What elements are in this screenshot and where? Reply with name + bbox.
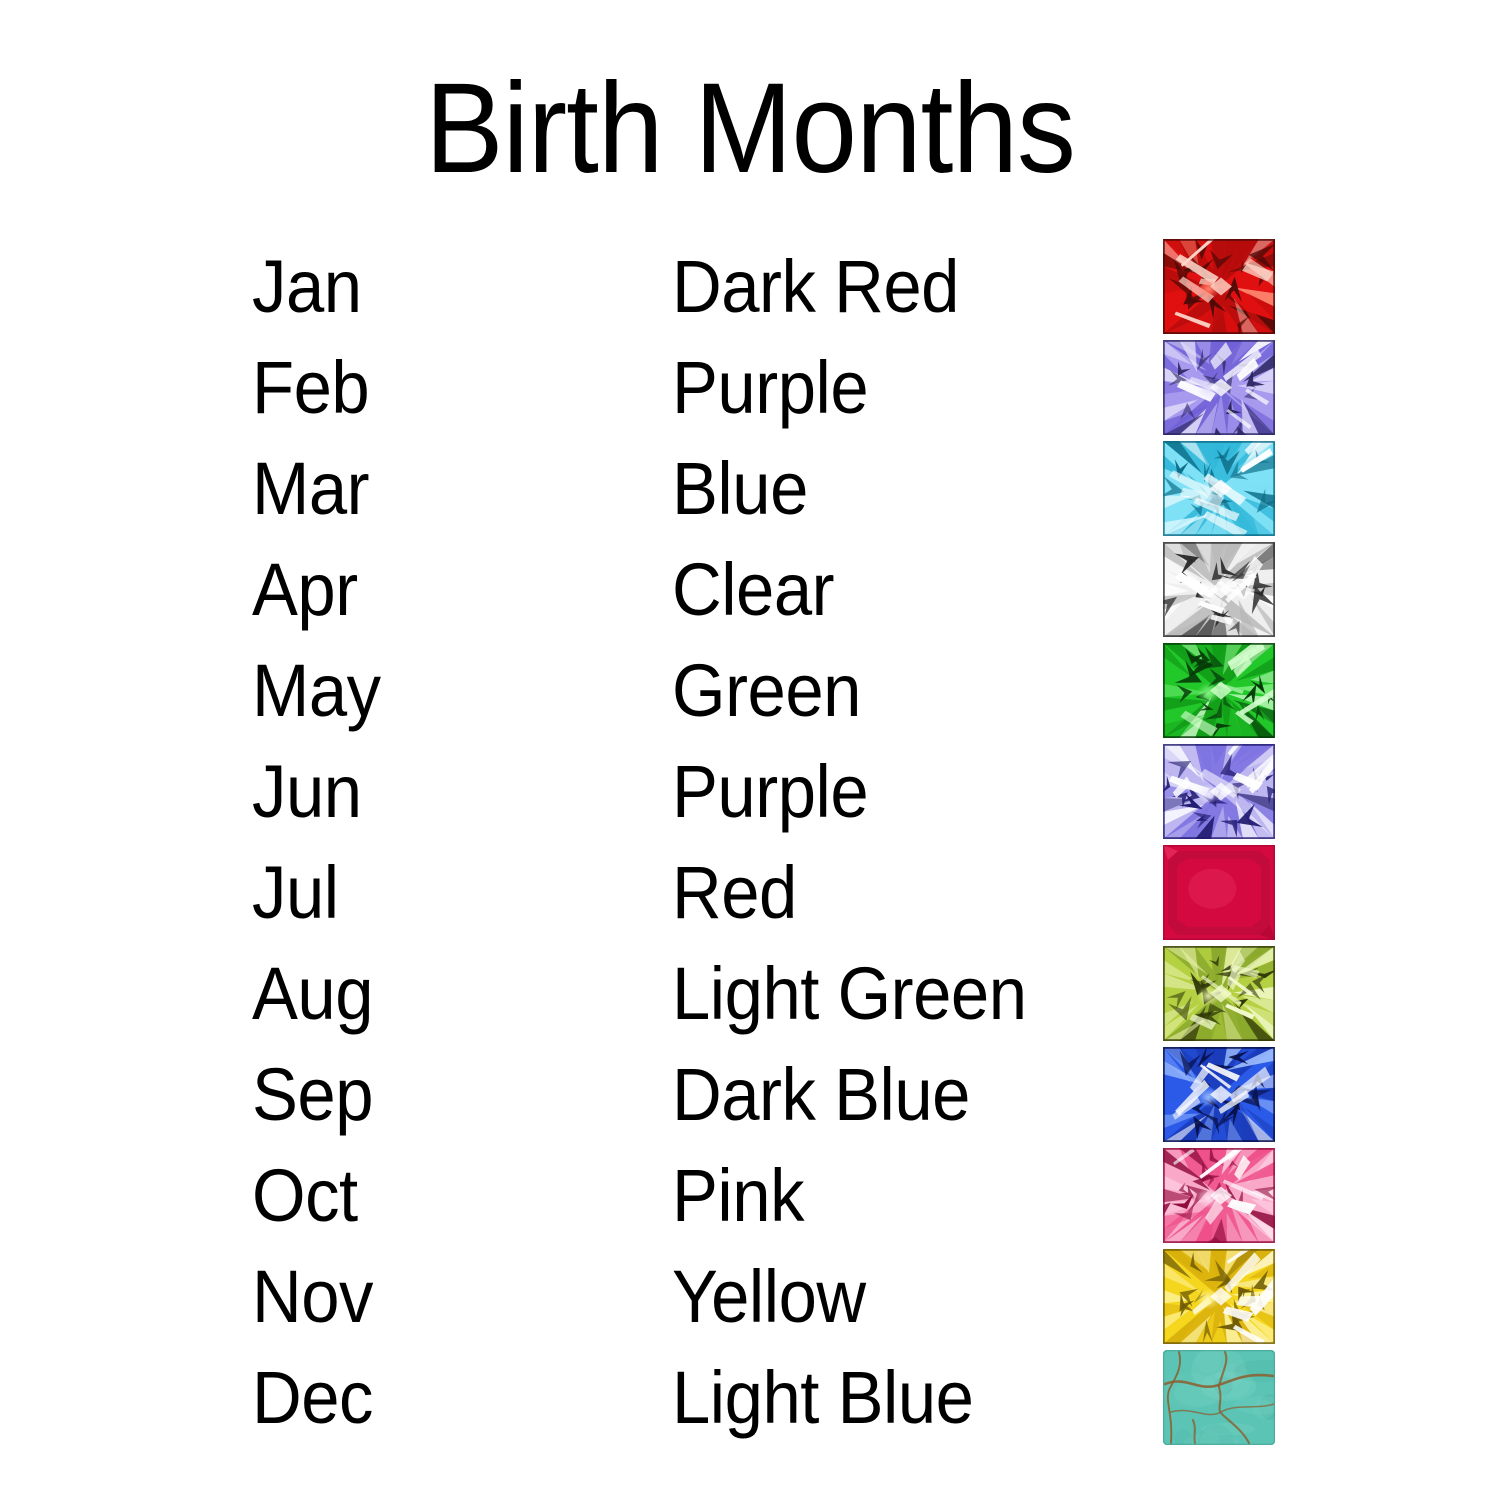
color-label: Yellow [672,1260,866,1334]
month-label: Apr [252,553,358,627]
page-title: Birth Months [60,62,1440,196]
aquamarine-gem [1163,441,1275,536]
color-label: Blue [672,452,808,526]
table-row: MarBlue [0,438,1500,539]
table-row: JulRed [0,842,1500,943]
table-row: JunPurple [0,741,1500,842]
peridot-gem [1163,946,1275,1041]
color-label: Green [672,654,861,728]
table-row: AprClear [0,539,1500,640]
color-label: Pink [672,1159,804,1233]
emerald-gem [1163,643,1275,738]
month-label: Aug [252,957,373,1031]
month-label: Oct [252,1159,358,1233]
amethyst-gem [1163,340,1275,435]
birth-months-table: JanDark RedFebPurpleMarBlueAprClearMayGr… [0,236,1500,1448]
table-row: AugLight Green [0,943,1500,1044]
table-row: DecLight Blue [0,1347,1500,1448]
month-label: Nov [252,1260,373,1334]
table-row: NovYellow [0,1246,1500,1347]
color-label: Dark Red [672,250,959,324]
month-label: Sep [252,1058,373,1132]
month-label: Jan [252,250,362,324]
alexandrite-gem [1163,744,1275,839]
sapphire-gem [1163,1047,1275,1142]
color-label: Light Blue [672,1361,973,1435]
garnet-gem [1163,239,1275,334]
birth-months-page: Birth Months JanDark RedFebPurpleMarBlue… [0,0,1500,1500]
table-row: SepDark Blue [0,1044,1500,1145]
month-label: Dec [252,1361,373,1435]
ruby-gem [1163,845,1275,940]
month-label: Jun [252,755,362,829]
color-label: Red [672,856,797,930]
month-label: Jul [252,856,339,930]
table-row: OctPink [0,1145,1500,1246]
table-row: MayGreen [0,640,1500,741]
table-row: JanDark Red [0,236,1500,337]
citrine-gem [1163,1249,1275,1344]
diamond-gem [1163,542,1275,637]
color-label: Purple [672,351,868,425]
color-label: Purple [672,755,868,829]
color-label: Light Green [672,957,1027,1031]
month-label: May [252,654,381,728]
table-row: FebPurple [0,337,1500,438]
color-label: Clear [672,553,834,627]
tourmaline-gem [1163,1148,1275,1243]
color-label: Dark Blue [672,1058,970,1132]
turquoise-gem [1163,1350,1275,1445]
month-label: Mar [252,452,369,526]
month-label: Feb [252,351,369,425]
